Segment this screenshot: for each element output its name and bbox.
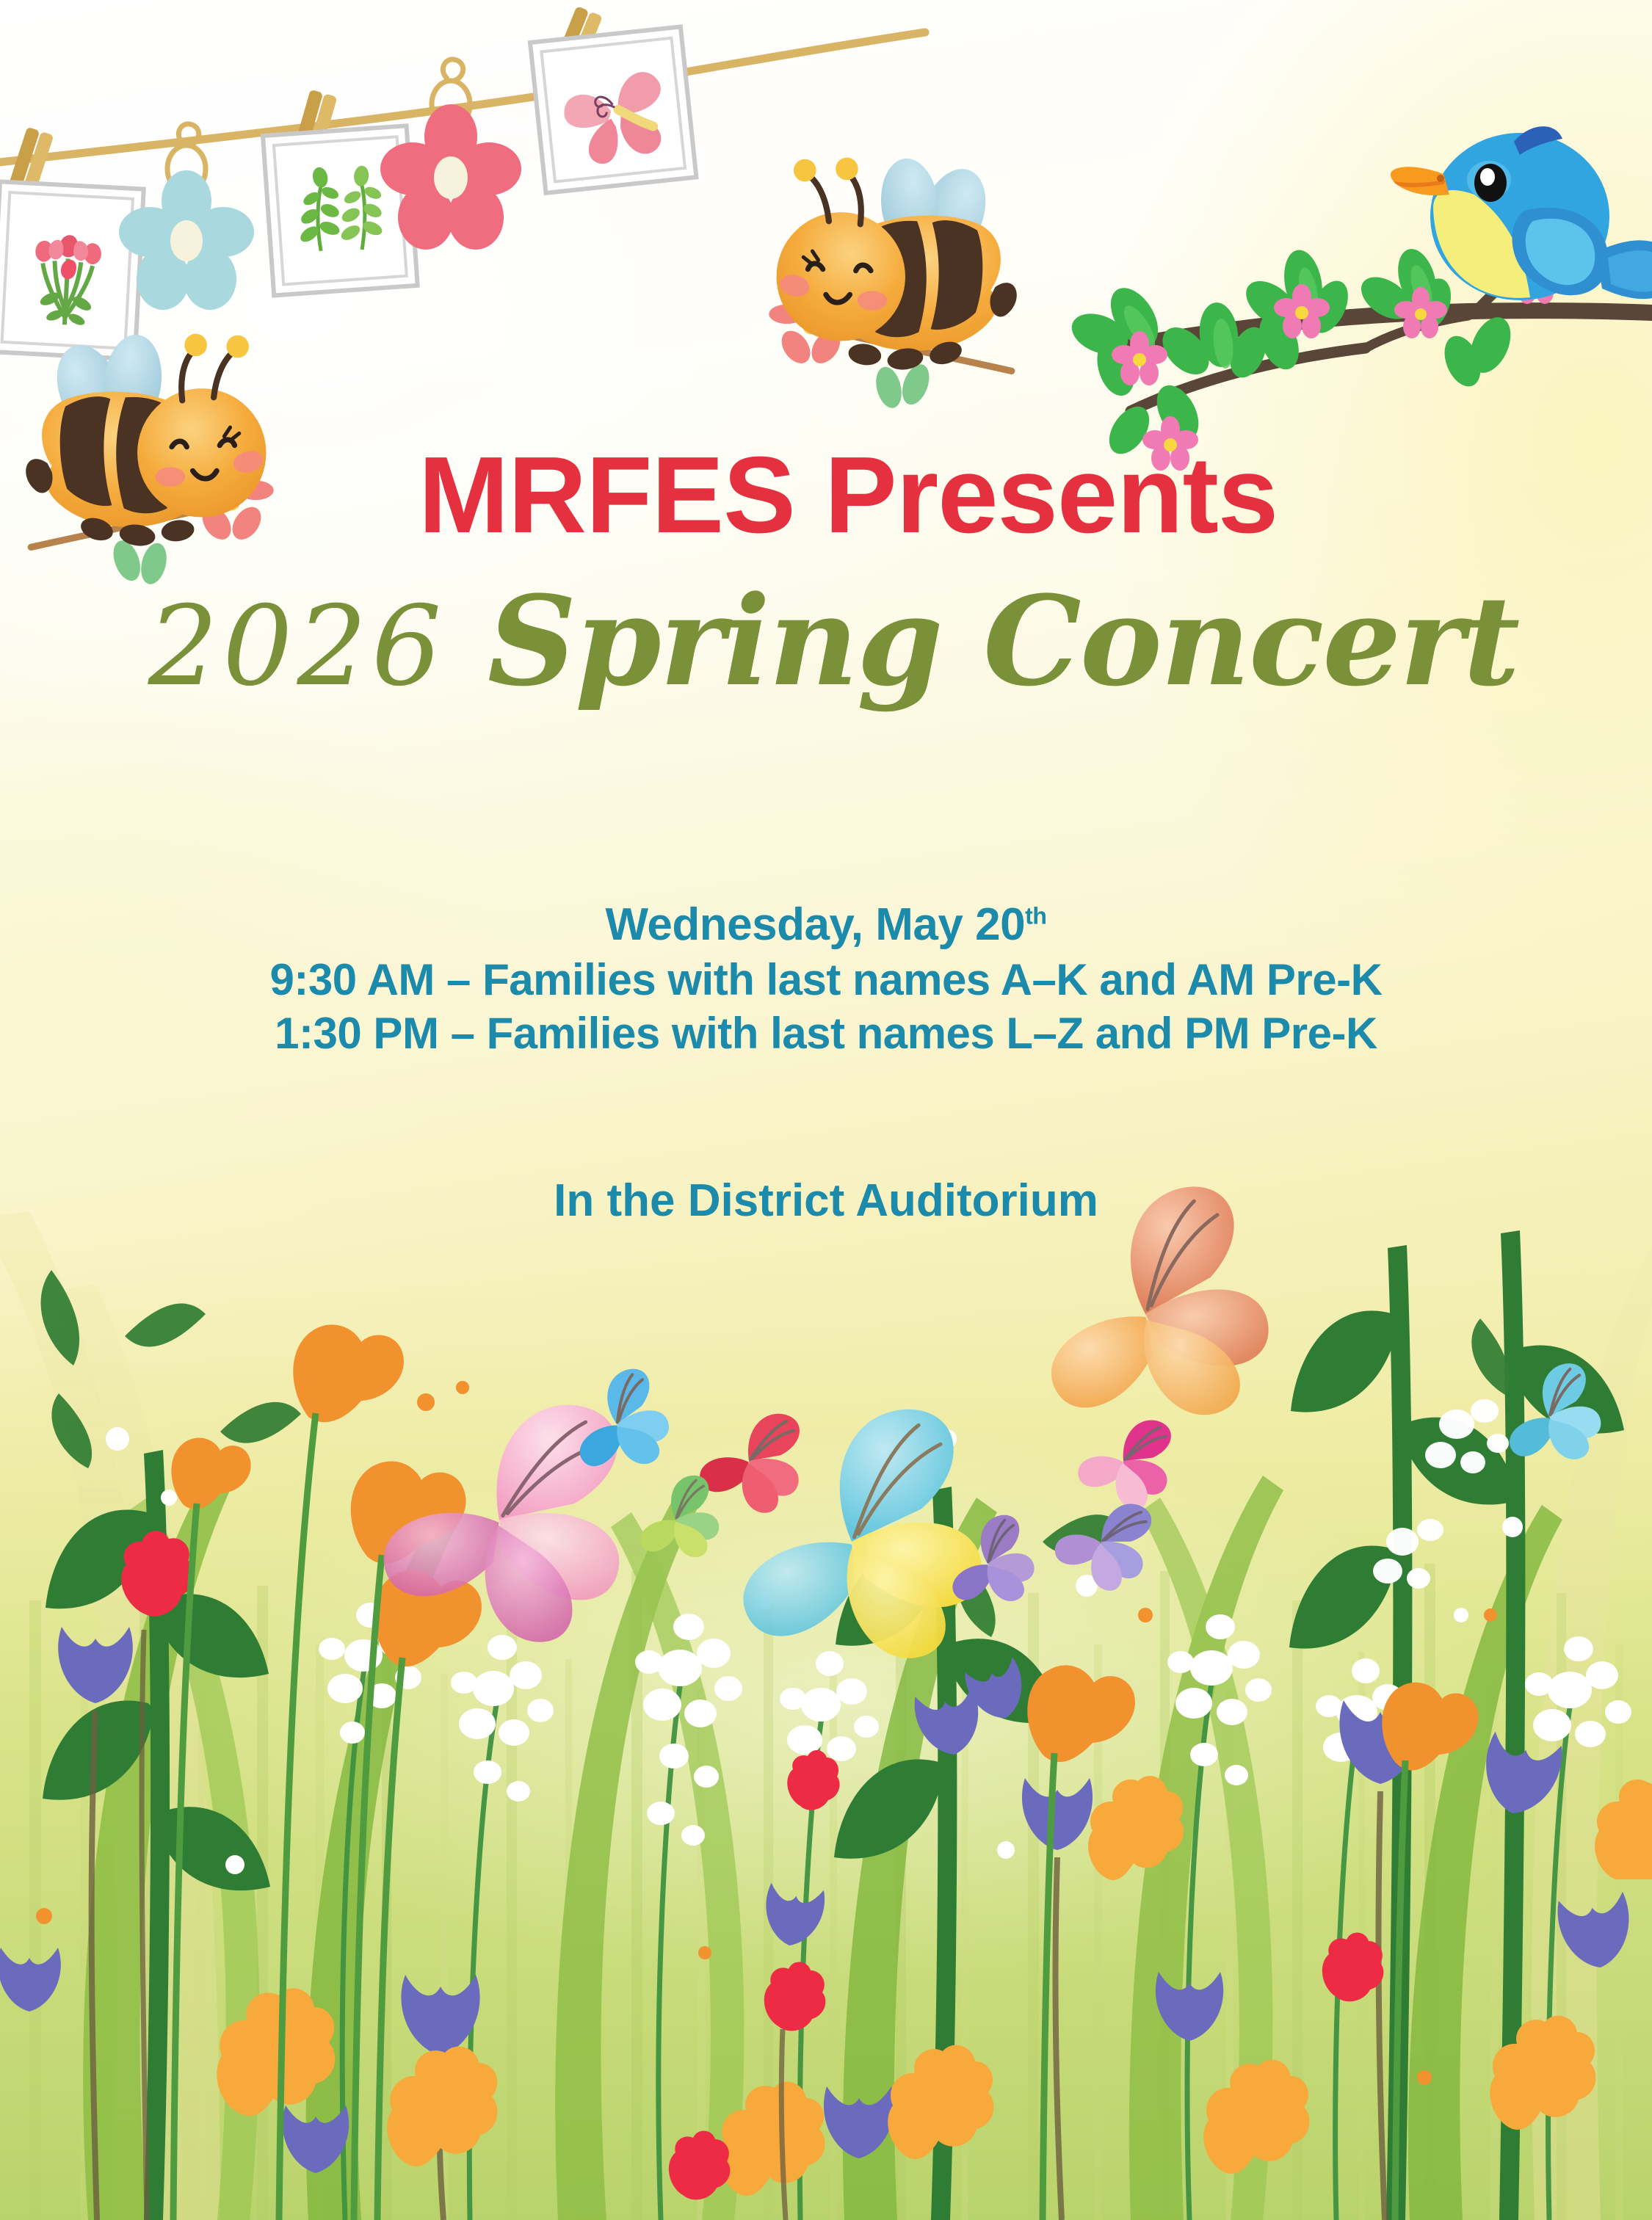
event-venue: In the District Auditorium [0,1175,1652,1227]
flowering-branch [1066,126,1652,471]
event-year: 2026 [148,583,446,711]
session-am: 9:30 AM – Families with last names A–K a… [0,953,1652,1006]
event-date: Wednesday, May 20th [0,897,1652,953]
flower-tag-blue [119,124,254,310]
event-title: 2026 Spring Concert [0,570,1652,712]
session-pm: 1:30 PM – Families with last names L–Z a… [0,1006,1652,1060]
poster-titles: MRFES Presents 2026 Spring Concert [0,440,1652,712]
event-name: Spring Concert [488,568,1518,714]
photo-frame-tulips [0,181,144,359]
top-decorations [0,0,1652,2220]
event-details: Wednesday, May 20th 9:30 AM – Families w… [0,897,1652,1060]
flower-tag-pink [380,59,521,250]
event-date-text: Wednesday, May 20 [605,899,1025,950]
spring-concert-flyer: MRFES Presents 2026 Spring Concert Wedne… [0,0,1652,2220]
bee-center [769,156,1016,410]
ordinal-suffix: th [1025,902,1046,929]
photo-frame-butterfly [530,26,696,192]
page-title: MRFES Presents [0,440,1652,551]
